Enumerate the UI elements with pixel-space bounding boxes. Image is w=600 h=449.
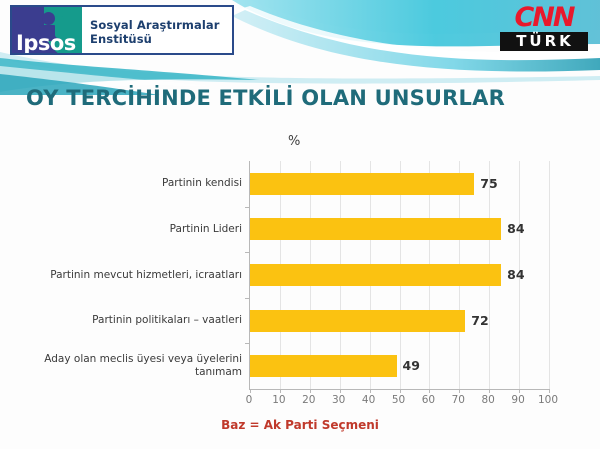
page-title: OY TERCİHİNDE ETKİLİ OLAN UNSURLAR (26, 86, 505, 110)
chart-x-tick (250, 389, 251, 393)
chart-category-label: Partinin politikaları – vaatleri (92, 314, 242, 327)
chart-category-label: Partinin kendisi (162, 177, 242, 190)
chart-x-tick (429, 389, 430, 393)
chart-x-tick (280, 389, 281, 393)
chart-x-tick (519, 389, 520, 393)
cnn-wordmark: CNN (500, 4, 588, 31)
chart-x-tick (400, 389, 401, 393)
chart-bar (250, 264, 501, 286)
chart-x-tick-label: 40 (362, 394, 375, 406)
chart-category-labels: Partinin kendisiPartinin LideriPartinin … (20, 161, 242, 389)
ipsos-head-shape (42, 12, 55, 25)
chart-x-tick-label: 0 (246, 394, 253, 406)
chart-bar-value: 49 (403, 358, 420, 373)
chart-x-tick-label: 90 (511, 394, 524, 406)
chart-x-tick (489, 389, 490, 393)
chart-gridline (549, 161, 550, 389)
ipsos-logo-icon: Ipsos (12, 7, 82, 53)
chart-plot-area: 7584847249 (249, 161, 549, 390)
chart-category-tick (245, 298, 250, 299)
chart-x-tick-label: 10 (272, 394, 285, 406)
chart-x-tick (459, 389, 460, 393)
ipsos-logo-box: Ipsos Sosyal Araştırmalar Enstitüsü (10, 5, 234, 55)
chart-footnote: Baz = Ak Parti Seçmeni (0, 418, 600, 432)
chart-bar (250, 310, 465, 332)
chart-x-tick (370, 389, 371, 393)
chart-category-label: Aday olan meclis üyesi veya üyelerini ta… (44, 353, 242, 379)
cnnturk-logo: CNN TÜRK (500, 4, 588, 52)
ipsos-institute-subtitle: Sosyal Araştırmalar Enstitüsü (90, 18, 232, 46)
chart-bar-value: 84 (507, 267, 524, 282)
chart-x-tick-label: 60 (422, 394, 435, 406)
chart-category-label: Partinin Lideri (170, 223, 242, 236)
chart-category-tick (245, 343, 250, 344)
chart-x-tick (340, 389, 341, 393)
chart-unit-label: % (288, 134, 300, 149)
chart-x-axis-labels: 0102030405060708090100 (249, 394, 548, 412)
turk-wordmark: TÜRK (500, 32, 588, 51)
chart-x-tick-label: 80 (482, 394, 495, 406)
chart-x-tick-label: 20 (302, 394, 315, 406)
chart-category-label: Partinin mevcut hizmetleri, icraatları (50, 269, 242, 282)
slide-canvas: Ipsos Sosyal Araştırmalar Enstitüsü CNN … (0, 0, 600, 449)
chart-x-tick-label: 100 (538, 394, 558, 406)
chart-x-tick (549, 389, 550, 393)
chart-bar-value: 75 (480, 176, 497, 191)
chart-bar (250, 218, 501, 240)
chart-x-tick-label: 70 (452, 394, 465, 406)
chart-x-tick-label: 50 (392, 394, 405, 406)
ipsos-wordmark: Ipsos (16, 33, 76, 53)
chart-bar (250, 355, 397, 377)
chart-bar-value: 72 (471, 313, 488, 328)
chart-category-tick (245, 207, 250, 208)
chart-x-tick (310, 389, 311, 393)
chart-bar (250, 173, 474, 195)
chart-bar-value: 84 (507, 221, 524, 236)
chart-category-tick (245, 252, 250, 253)
bar-chart: % Partinin kendisiPartinin LideriPartini… (0, 128, 600, 413)
chart-x-tick-label: 30 (332, 394, 345, 406)
